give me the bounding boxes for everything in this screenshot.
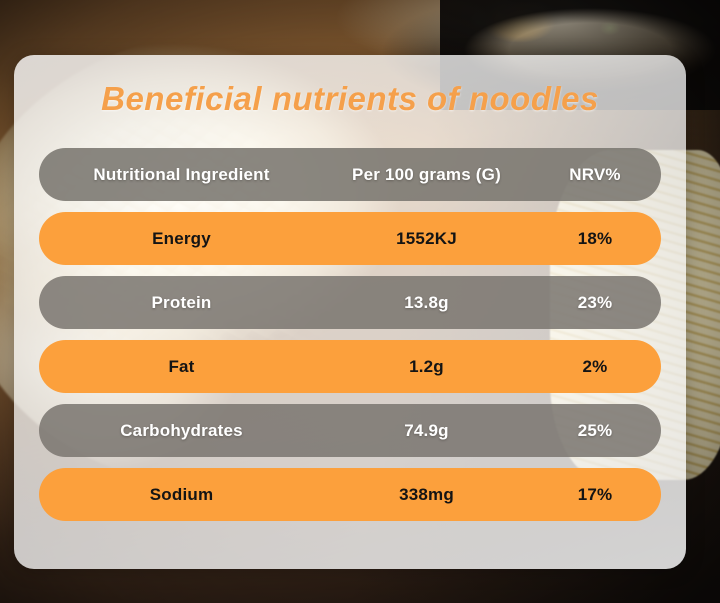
column-header-amount: Per 100 grams (G)	[324, 165, 529, 185]
cell-amount: 74.9g	[324, 421, 529, 441]
nutrition-card: Beneficial nutrients of noodles Nutritio…	[14, 55, 686, 569]
cell-nrv: 17%	[529, 485, 661, 505]
table-row: Carbohydrates 74.9g 25%	[39, 404, 661, 457]
cell-amount: 13.8g	[324, 293, 529, 313]
cell-ingredient: Carbohydrates	[39, 421, 324, 441]
cell-nrv: 18%	[529, 229, 661, 249]
cell-nrv: 25%	[529, 421, 661, 441]
column-header-nrv: NRV%	[529, 165, 661, 185]
table-header-row: Nutritional Ingredient Per 100 grams (G)…	[39, 148, 661, 201]
table-row: Fat 1.2g 2%	[39, 340, 661, 393]
cell-amount: 338mg	[324, 485, 529, 505]
cell-ingredient: Sodium	[39, 485, 324, 505]
cell-nrv: 23%	[529, 293, 661, 313]
infographic-stage: Beneficial nutrients of noodles Nutritio…	[0, 0, 720, 603]
table-row: Sodium 338mg 17%	[39, 468, 661, 521]
cell-ingredient: Energy	[39, 229, 324, 249]
column-header-ingredient: Nutritional Ingredient	[39, 165, 324, 185]
cell-ingredient: Fat	[39, 357, 324, 377]
nutrition-table: Nutritional Ingredient Per 100 grams (G)…	[39, 148, 661, 532]
table-row: Protein 13.8g 23%	[39, 276, 661, 329]
table-row: Energy 1552KJ 18%	[39, 212, 661, 265]
cell-amount: 1.2g	[324, 357, 529, 377]
page-title: Beneficial nutrients of noodles	[14, 80, 686, 118]
cell-ingredient: Protein	[39, 293, 324, 313]
cell-amount: 1552KJ	[324, 229, 529, 249]
cell-nrv: 2%	[529, 357, 661, 377]
